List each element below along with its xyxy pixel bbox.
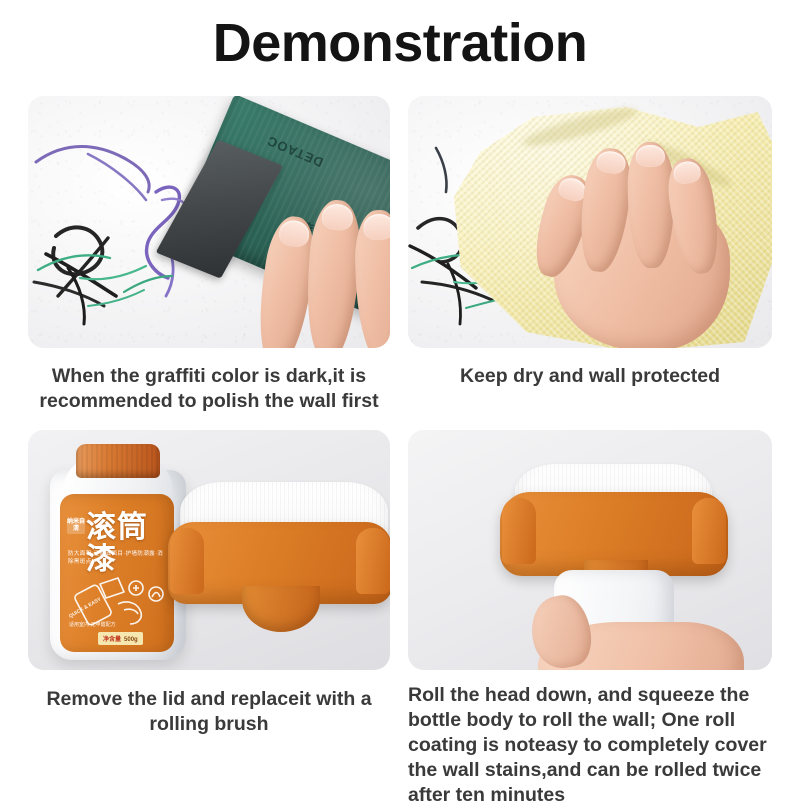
paint-bottle: 纳米自清 滚筒漆 防大面积·还原真面目·护墙防潮露·消除黑斑点 — [50, 444, 186, 660]
roller-arm-left — [170, 528, 204, 594]
bottle-cap — [76, 444, 160, 478]
roller-arm-left — [502, 498, 536, 564]
fingernail — [672, 160, 702, 186]
fingernail — [363, 214, 390, 241]
step-4-photo — [408, 430, 772, 670]
label-weight-badge: 净含量500g — [98, 632, 143, 645]
step-3-caption: Remove the lid and replaceit with a roll… — [28, 687, 390, 737]
hand — [532, 588, 750, 670]
fingernail — [636, 145, 665, 167]
page-title: Demonstration — [0, 12, 800, 74]
weight-badge-value: 500g — [124, 637, 138, 643]
roller-arm-right — [692, 498, 726, 564]
step-2-caption: Keep dry and wall protected — [408, 364, 772, 389]
weight-badge-label: 净含量 — [103, 637, 121, 643]
fingernail — [595, 150, 626, 175]
step-3-photo: 纳米自清 滚筒漆 防大面积·还原真面目·护墙防潮露·消除黑斑点 — [28, 430, 390, 670]
label-note: 适用室内·无甲醛配方 — [69, 622, 145, 629]
step-1-photo: DETAOC SHS 砂纸 — [28, 96, 390, 348]
label-side-text: 纳米自清 — [67, 518, 85, 534]
step-1-caption: When the graffiti color is dark,it is re… — [28, 364, 390, 414]
step-4-caption: Roll the head down, and squeeze the bott… — [408, 683, 772, 808]
demo-step-4: Roll the head down, and squeeze the bott… — [408, 430, 772, 808]
thumb — [525, 591, 597, 670]
hand — [224, 192, 390, 348]
fingernail — [321, 203, 354, 231]
bottle-label: 纳米自清 滚筒漆 防大面积·还原真面目·护墙防潮露·消除黑斑点 — [60, 494, 174, 652]
demo-step-1: DETAOC SHS 砂纸 When the graffiti color is… — [28, 96, 390, 414]
roller-brush-head — [168, 482, 390, 650]
svg-text:QUICK & EASY: QUICK & EASY — [68, 596, 103, 620]
finger — [353, 209, 390, 348]
demo-step-3: 纳米自清 滚筒漆 防大面积·还原真面目·护墙防潮露·消除黑斑点 — [28, 430, 390, 737]
step-2-photo — [408, 96, 772, 348]
roller-stem — [242, 586, 320, 632]
demonstration-page: Demonstration — [0, 0, 800, 800]
fingernail — [278, 219, 311, 249]
roller-arm-right — [356, 528, 390, 594]
hand — [526, 126, 740, 348]
demo-step-2: Keep dry and wall protected — [408, 96, 772, 389]
finger — [302, 198, 363, 348]
